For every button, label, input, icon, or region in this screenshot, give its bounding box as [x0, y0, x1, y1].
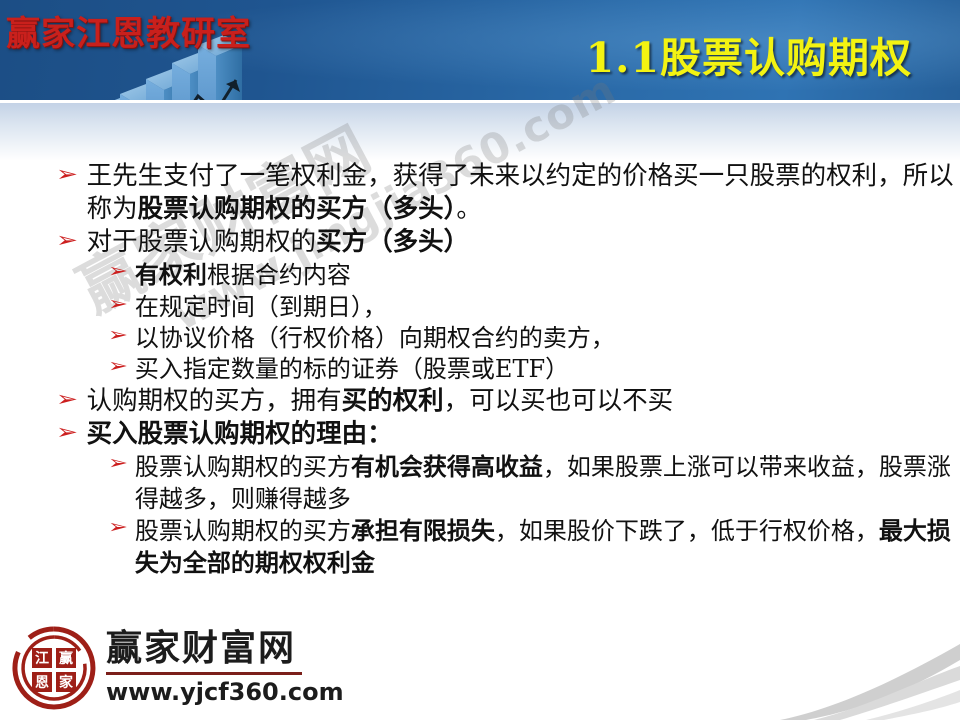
- bullet-text-run: 股票认购期权的买方: [135, 453, 351, 481]
- bullet-level-2: ➢以协议价格（行权价格）向期权合约的卖方，: [0, 323, 960, 354]
- bullet-text-run: ，如果股价下跌了，低于行权价格，: [495, 517, 879, 545]
- bullet-arrow-icon: ➢: [56, 160, 78, 188]
- bullet-text: 买入股票认购期权的理由：: [87, 418, 960, 451]
- bullet-text-emphasis: 承担有限损失: [351, 516, 495, 545]
- bullet-level-2: ➢有权利根据合约内容: [0, 259, 960, 291]
- bullet-text-run: 买入指定数量的标的证券（股票或ETF）: [135, 355, 569, 383]
- footer-logo-text: 赢家财富网 www.yjcf360.com: [106, 630, 344, 706]
- bullet-arrow-icon: ➢: [108, 292, 128, 317]
- bullet-arrow-icon: ➢: [108, 323, 128, 348]
- bullet-text-run: 认购期权的买方，拥有: [87, 386, 342, 416]
- seal-char-2: 恩: [35, 675, 49, 691]
- seal-logo-icon: 江 赢 恩 家: [10, 624, 98, 712]
- bullet-arrow-icon: ➢: [108, 451, 128, 476]
- bullet-text-emphasis: 买的权利: [342, 386, 444, 416]
- bullet-level-2: ➢买入指定数量的标的证券（股票或ETF）: [0, 354, 960, 385]
- bullet-text: 买入指定数量的标的证券（股票或ETF）: [135, 354, 960, 385]
- bullet-level-1: ➢认购期权的买方，拥有买的权利，可以买也可以不买: [0, 385, 960, 418]
- slide-title: 1.1股票认购期权: [586, 24, 912, 84]
- bullet-text: 对于股票认购期权的买方（多头）: [87, 226, 960, 259]
- bullet-arrow-icon: ➢: [56, 226, 78, 254]
- bullet-text: 王先生支付了一笔权利金，获得了未来以约定的价格买一只股票的权利，所以称为股票认购…: [87, 160, 960, 226]
- header-fade-gradient: [0, 103, 960, 161]
- seal-char-1: 赢: [59, 650, 73, 667]
- bullet-text-run: 在规定时间（到期日），: [135, 293, 387, 321]
- swoosh-decoration: [770, 636, 960, 720]
- bullet-text-emphasis: 买方（多头）: [316, 227, 469, 257]
- bullet-arrow-icon: ➢: [56, 385, 78, 413]
- slide-header: 赢家江恩教研室 1.1股票认购期权: [0, 0, 960, 100]
- bullet-text: 有权利根据合约内容: [135, 259, 960, 291]
- bullet-level-1: ➢王先生支付了一笔权利金，获得了未来以约定的价格买一只股票的权利，所以称为股票认…: [0, 160, 960, 226]
- bullet-level-1: ➢对于股票认购期权的买方（多头）: [0, 226, 960, 259]
- bullet-text-emphasis: 有权利: [135, 260, 207, 289]
- bullet-level-2: ➢在规定时间（到期日），: [0, 292, 960, 323]
- bullet-text-run: 以协议价格（行权价格）向期权合约的卖方，: [135, 324, 615, 352]
- footer-logo: 江 赢 恩 家 赢家财富网 www.yjcf360.com: [10, 624, 344, 712]
- footer-logo-cn: 赢家财富网: [106, 630, 344, 668]
- bullet-text-run: 股票认购期权的买方: [135, 517, 351, 545]
- seal-char-3: 家: [59, 674, 74, 691]
- bullet-text-run: 对于股票认购期权的: [87, 227, 317, 257]
- bullet-text: 认购期权的买方，拥有买的权利，可以买也可以不买: [87, 385, 960, 418]
- footer-logo-url: www.yjcf360.com: [106, 678, 344, 706]
- slide-footer: 江 赢 恩 家 赢家财富网 www.yjcf360.com: [0, 618, 960, 720]
- brand-title: 赢家江恩教研室: [6, 6, 251, 55]
- bullet-text: 股票认购期权的买方有机会获得高收益，如果股票上涨可以带来收益，股票涨得越多，则赚…: [135, 451, 960, 514]
- bullet-arrow-icon: ➢: [108, 259, 128, 284]
- bullet-level-2: ➢股票认购期权的买方承担有限损失，如果股价下跌了，低于行权价格，最大损失为全部的…: [0, 515, 960, 579]
- bullet-text-emphasis: 股票认购期权的买方（多头）: [138, 194, 457, 224]
- bullet-level-1: ➢买入股票认购期权的理由：: [0, 418, 960, 451]
- bullet-text-run: 根据合约内容: [207, 261, 351, 289]
- bullet-text: 在规定时间（到期日），: [135, 292, 960, 323]
- bullet-level-2: ➢股票认购期权的买方有机会获得高收益，如果股票上涨可以带来收益，股票涨得越多，则…: [0, 451, 960, 514]
- bullet-arrow-icon: ➢: [56, 418, 78, 446]
- slide-body: ➢王先生支付了一笔权利金，获得了未来以约定的价格买一只股票的权利，所以称为股票认…: [0, 160, 960, 615]
- bullet-text-emphasis: 有机会获得高收益: [351, 452, 543, 481]
- bullet-text-run: ，可以买也可以不买: [444, 386, 674, 416]
- slide-canvas: 赢家江恩教研室 1.1股票认购期权 赢家财富网 www.jingjia360.c…: [0, 0, 960, 720]
- bullet-arrow-icon: ➢: [108, 515, 128, 540]
- bullet-text: 以协议价格（行权价格）向期权合约的卖方，: [135, 323, 960, 354]
- footer-logo-rule: [106, 672, 302, 675]
- bullet-text-run: 。: [456, 194, 482, 224]
- bullet-arrow-icon: ➢: [108, 354, 128, 379]
- seal-char-0: 江: [35, 650, 49, 667]
- bullet-text-emphasis: 买入股票认购期权的理由：: [87, 419, 393, 449]
- bullet-text: 股票认购期权的买方承担有限损失，如果股价下跌了，低于行权价格，最大损失为全部的期…: [135, 515, 960, 579]
